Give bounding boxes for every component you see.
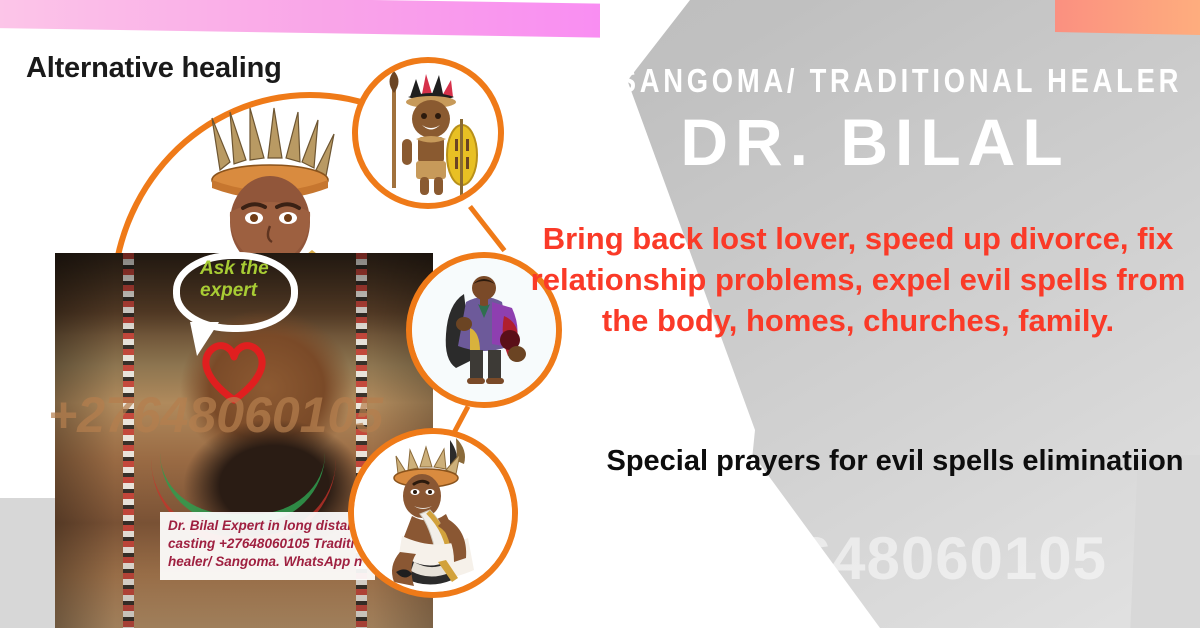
eyebrow-heading: SANGOMA/ TRADITIONAL HEALER xyxy=(618,62,1133,100)
services-description: Bring back lost lover, speed up divorce,… xyxy=(528,219,1188,342)
pink-gradient-band xyxy=(0,0,600,38)
photo-caption-box: Dr. Bilal Expert in long distan casting … xyxy=(160,512,375,580)
healer-name-title: DR. BILAL xyxy=(565,104,1185,180)
circle-kneeling-dancer xyxy=(348,428,518,598)
special-prayers-subheading: Special prayers for evil spells eliminat… xyxy=(600,442,1190,481)
photo-caption-text: Dr. Bilal Expert in long distan casting … xyxy=(168,517,367,571)
poster-canvas: Alternative healing xyxy=(0,0,1200,628)
phone-watermark: +27648060105 xyxy=(600,524,1200,593)
orange-gradient-band xyxy=(1055,0,1200,36)
circle-zulu-warrior-cartoon xyxy=(352,57,504,209)
speech-bubble-text: Ask the expert xyxy=(200,258,310,303)
photo-watermark-phone: +27648060105 xyxy=(48,386,383,444)
page-title: Alternative healing xyxy=(26,52,282,85)
